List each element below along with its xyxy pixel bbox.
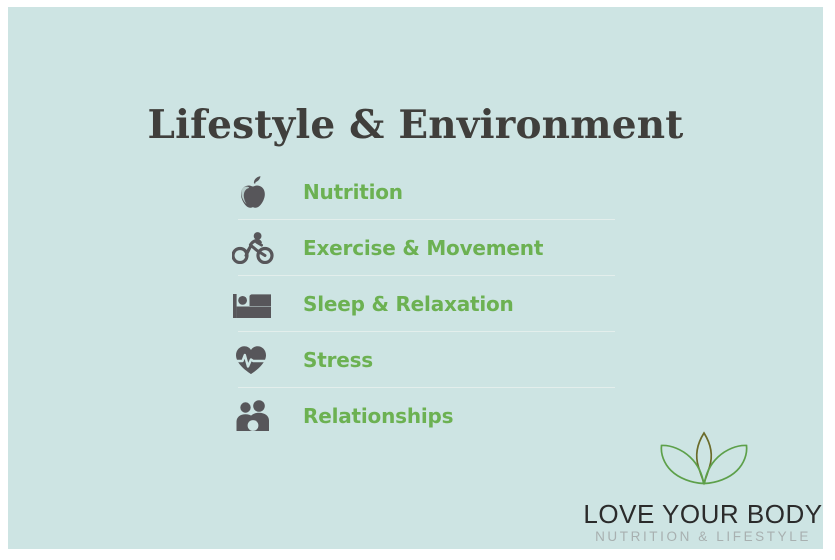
three-leaf-icon [645,431,763,502]
list-item-sleep[interactable]: Sleep & Relaxation [230,276,615,331]
list-item-nutrition[interactable]: Nutrition [230,164,615,219]
two-people-icon [230,394,276,438]
cyclist-icon [230,226,276,270]
bed-icon [230,282,276,326]
list-item-stress[interactable]: Stress [230,332,615,387]
page-title: Lifestyle & Environment [8,102,823,148]
logo-name: LOVE YOUR BODY [583,499,823,530]
apple-icon [230,170,276,214]
lifestyle-list: Nutrition Exercise & Movement [230,164,615,443]
slide-canvas: Lifestyle & Environment Nutrition [8,7,823,549]
list-item-relationships[interactable]: Relationships [230,388,615,443]
list-item-label: Nutrition [303,180,403,204]
logo-tagline: NUTRITION & LIFESTYLE [583,529,823,544]
list-item-label: Exercise & Movement [303,236,543,260]
list-item-label: Relationships [303,404,453,428]
brand-logo: LOVE YOUR BODY NUTRITION & LIFESTYLE [583,431,823,541]
list-item-label: Sleep & Relaxation [303,292,514,316]
list-item-label: Stress [303,348,373,372]
list-item-exercise[interactable]: Exercise & Movement [230,220,615,275]
heart-pulse-icon [230,338,276,382]
